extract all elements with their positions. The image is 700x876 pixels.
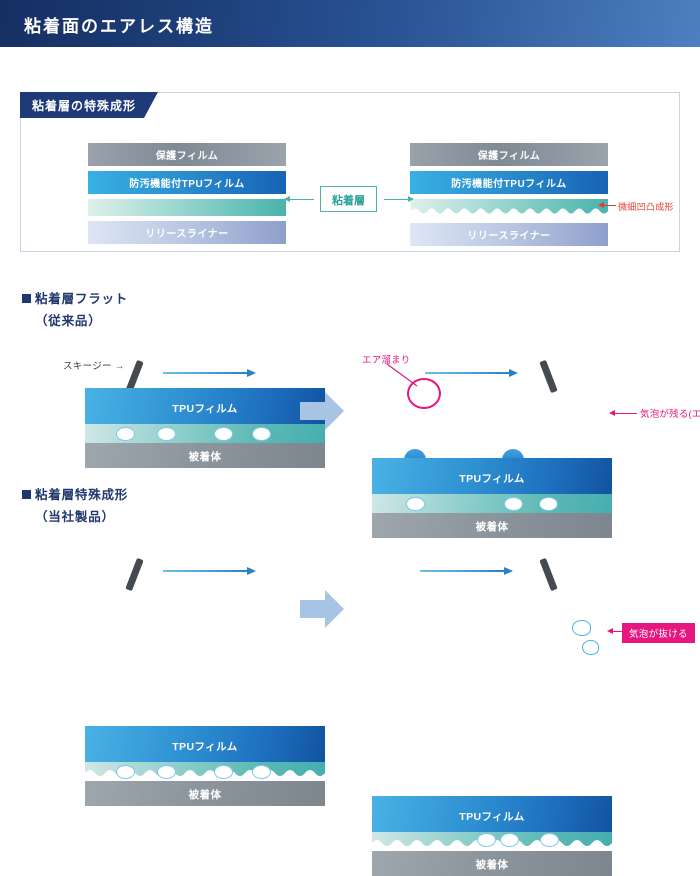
- layer-label: リリースライナー: [410, 227, 608, 242]
- layer-label: リリースライナー: [88, 225, 286, 240]
- direction-arrow-line: [163, 372, 248, 374]
- layer-release-liner: リリースライナー: [88, 221, 286, 244]
- layer-tpu-film: 防汚機能付TPUフィルム: [410, 171, 608, 194]
- diagram-tpu-layer: TPUフィルム: [372, 796, 612, 832]
- diagram-tpu-label: TPUフィルム: [372, 809, 612, 824]
- air-bubble: [540, 833, 559, 847]
- right-layer-stack: 保護フィルム 防汚機能付TPUフィルム リリースライナー: [410, 143, 608, 251]
- section-flat-subtitle: （従来品）: [35, 310, 102, 329]
- block-arrow-icon: [300, 588, 344, 630]
- block-arrow-icon: [300, 390, 344, 432]
- squeegee-icon: [539, 360, 557, 393]
- process-arrow-textured: [300, 588, 344, 630]
- microtexture-label: 微細凹凸成形: [618, 200, 674, 213]
- left-layer-stack: 保護フィルム 防汚機能付TPUフィルム リリースライナー: [88, 143, 286, 249]
- air-bubble: [116, 765, 135, 779]
- section-textured-subtitle: （当社製品）: [35, 506, 115, 525]
- layer-protect-film: 保護フィルム: [410, 143, 608, 166]
- bubble-remain-label: 気泡が残る(エア溜り): [592, 406, 700, 420]
- diagram-tpu-label: TPUフィルム: [85, 401, 325, 416]
- page-title: 粘着面のエアレス構造: [24, 12, 214, 37]
- diagram-base-label: 被着体: [85, 787, 325, 802]
- adhesive-callout-label: 粘着層: [321, 192, 376, 208]
- page-header: 粘着面のエアレス構造: [0, 0, 700, 47]
- bubble-escape-badge: 気泡が抜ける: [622, 623, 695, 643]
- diagram-base-label: 被着体: [85, 449, 325, 464]
- diagram-base-layer: 被着体: [85, 443, 325, 468]
- layer-label: 保護フィルム: [410, 147, 608, 162]
- layer-tpu-film: 防汚機能付TPUフィルム: [88, 171, 286, 194]
- air-bubble: [252, 765, 271, 779]
- diagram-textured-before: TPUフィルム 被着体: [85, 726, 325, 796]
- diagram-flat-before: TPUフィルム 被着体: [85, 388, 325, 458]
- diagram-base-label: 被着体: [372, 519, 612, 534]
- layer-adhesive-textured: [410, 199, 608, 218]
- layer-label: 防汚機能付TPUフィルム: [410, 175, 608, 190]
- air-bubble: [539, 497, 558, 511]
- diagram-base-layer: 被着体: [372, 851, 612, 876]
- callout-arrow-left-head: [284, 196, 290, 202]
- squeegee-icon: [125, 558, 143, 591]
- escaping-bubble: [572, 620, 591, 636]
- direction-arrow-line: [163, 570, 248, 572]
- air-bubble: [406, 497, 425, 511]
- layer-release-liner: リリースライナー: [410, 223, 608, 246]
- section-textured-title: 粘着層特殊成形: [35, 488, 128, 502]
- air-bubble: [157, 427, 176, 441]
- bullet-square-icon: [22, 294, 31, 303]
- diagram-tpu-layer: TPUフィルム: [85, 388, 325, 424]
- section-textured-heading: 粘着層特殊成形: [22, 484, 128, 504]
- layer-protect-film: 保護フィルム: [88, 143, 286, 166]
- air-bubble: [116, 427, 135, 441]
- diagram-tpu-layer: TPUフィルム: [85, 726, 325, 762]
- section-flat-title: 粘着層フラット: [35, 292, 128, 306]
- air-bubble: [214, 765, 233, 779]
- direction-arrow-head: [247, 369, 256, 377]
- microtexture-arrow-line: [600, 205, 616, 206]
- direction-arrow-head: [504, 567, 513, 575]
- diagram-base-layer: 被着体: [85, 781, 325, 806]
- diagram-base-label: 被着体: [372, 857, 612, 872]
- bullet-square-icon: [22, 490, 31, 499]
- diagram-textured-after: TPUフィルム 被着体: [372, 796, 612, 866]
- wavy-adhesive-shape: [410, 199, 608, 218]
- adhesive-callout-box: 粘着層: [320, 186, 377, 212]
- air-pocket-highlight-circle: [407, 378, 441, 409]
- direction-arrow-head: [509, 369, 518, 377]
- panel-tab-label: 粘着層の特殊成形: [32, 97, 136, 114]
- direction-arrow-line: [425, 372, 510, 374]
- direction-arrow-head: [247, 567, 256, 575]
- direction-arrow-line: [420, 570, 505, 572]
- section-flat-heading: 粘着層フラット: [22, 288, 128, 308]
- air-bubble: [252, 427, 271, 441]
- air-bubble: [214, 427, 233, 441]
- air-bubble: [500, 833, 519, 847]
- diagram-base-layer: 被着体: [372, 513, 612, 538]
- callout-arrow-right-line: [384, 199, 410, 200]
- escaping-bubble: [582, 640, 599, 655]
- air-bubble: [157, 765, 176, 779]
- squeegee-label: スキージー →: [63, 358, 125, 372]
- diagram-flat-after: TPUフィルム 被着体: [372, 458, 612, 528]
- squeegee-icon: [539, 558, 557, 591]
- layer-adhesive-flat: [88, 199, 286, 216]
- callout-arrow-left-line: [288, 199, 314, 200]
- callout-arrow-right-head: [408, 196, 414, 202]
- layer-label: 防汚機能付TPUフィルム: [88, 175, 286, 190]
- diagram-tpu-label: TPUフィルム: [85, 739, 325, 754]
- layer-label: 保護フィルム: [88, 147, 286, 162]
- air-bubble: [477, 833, 496, 847]
- process-arrow-flat: [300, 390, 344, 432]
- diagram-tpu-label: TPUフィルム: [372, 471, 612, 486]
- diagram-tpu-layer: TPUフィルム: [372, 458, 612, 494]
- air-bubble: [504, 497, 523, 511]
